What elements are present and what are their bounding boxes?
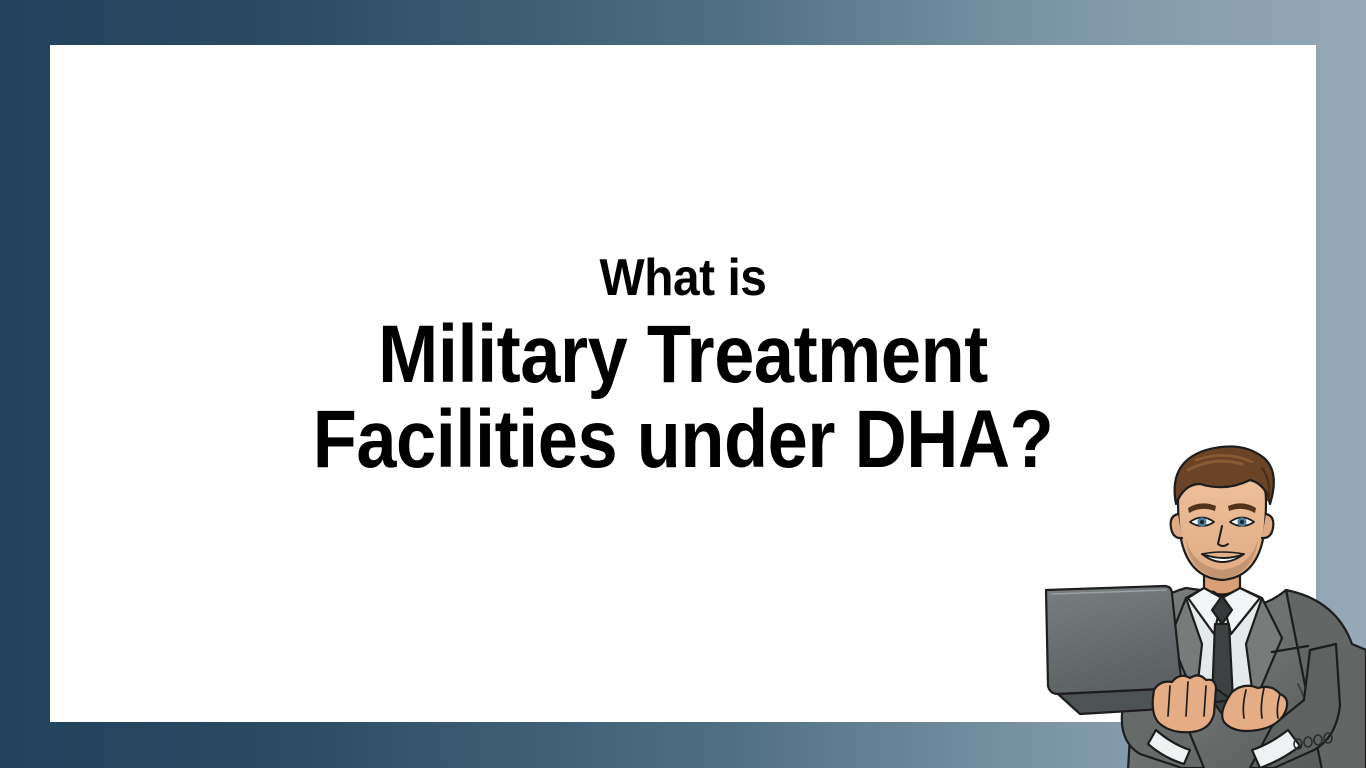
cuff-buttons (1294, 733, 1332, 749)
headline-block: What is Military Treatment Facilities un… (50, 250, 1316, 483)
headline-line-2: Facilities under DHA? (126, 397, 1240, 482)
content-card: What is Military Treatment Facilities un… (50, 45, 1316, 722)
headline-line-1: Military Treatment (126, 312, 1240, 397)
slide-root: What is Military Treatment Facilities un… (0, 0, 1366, 768)
headline-eyebrow: What is (101, 250, 1266, 306)
